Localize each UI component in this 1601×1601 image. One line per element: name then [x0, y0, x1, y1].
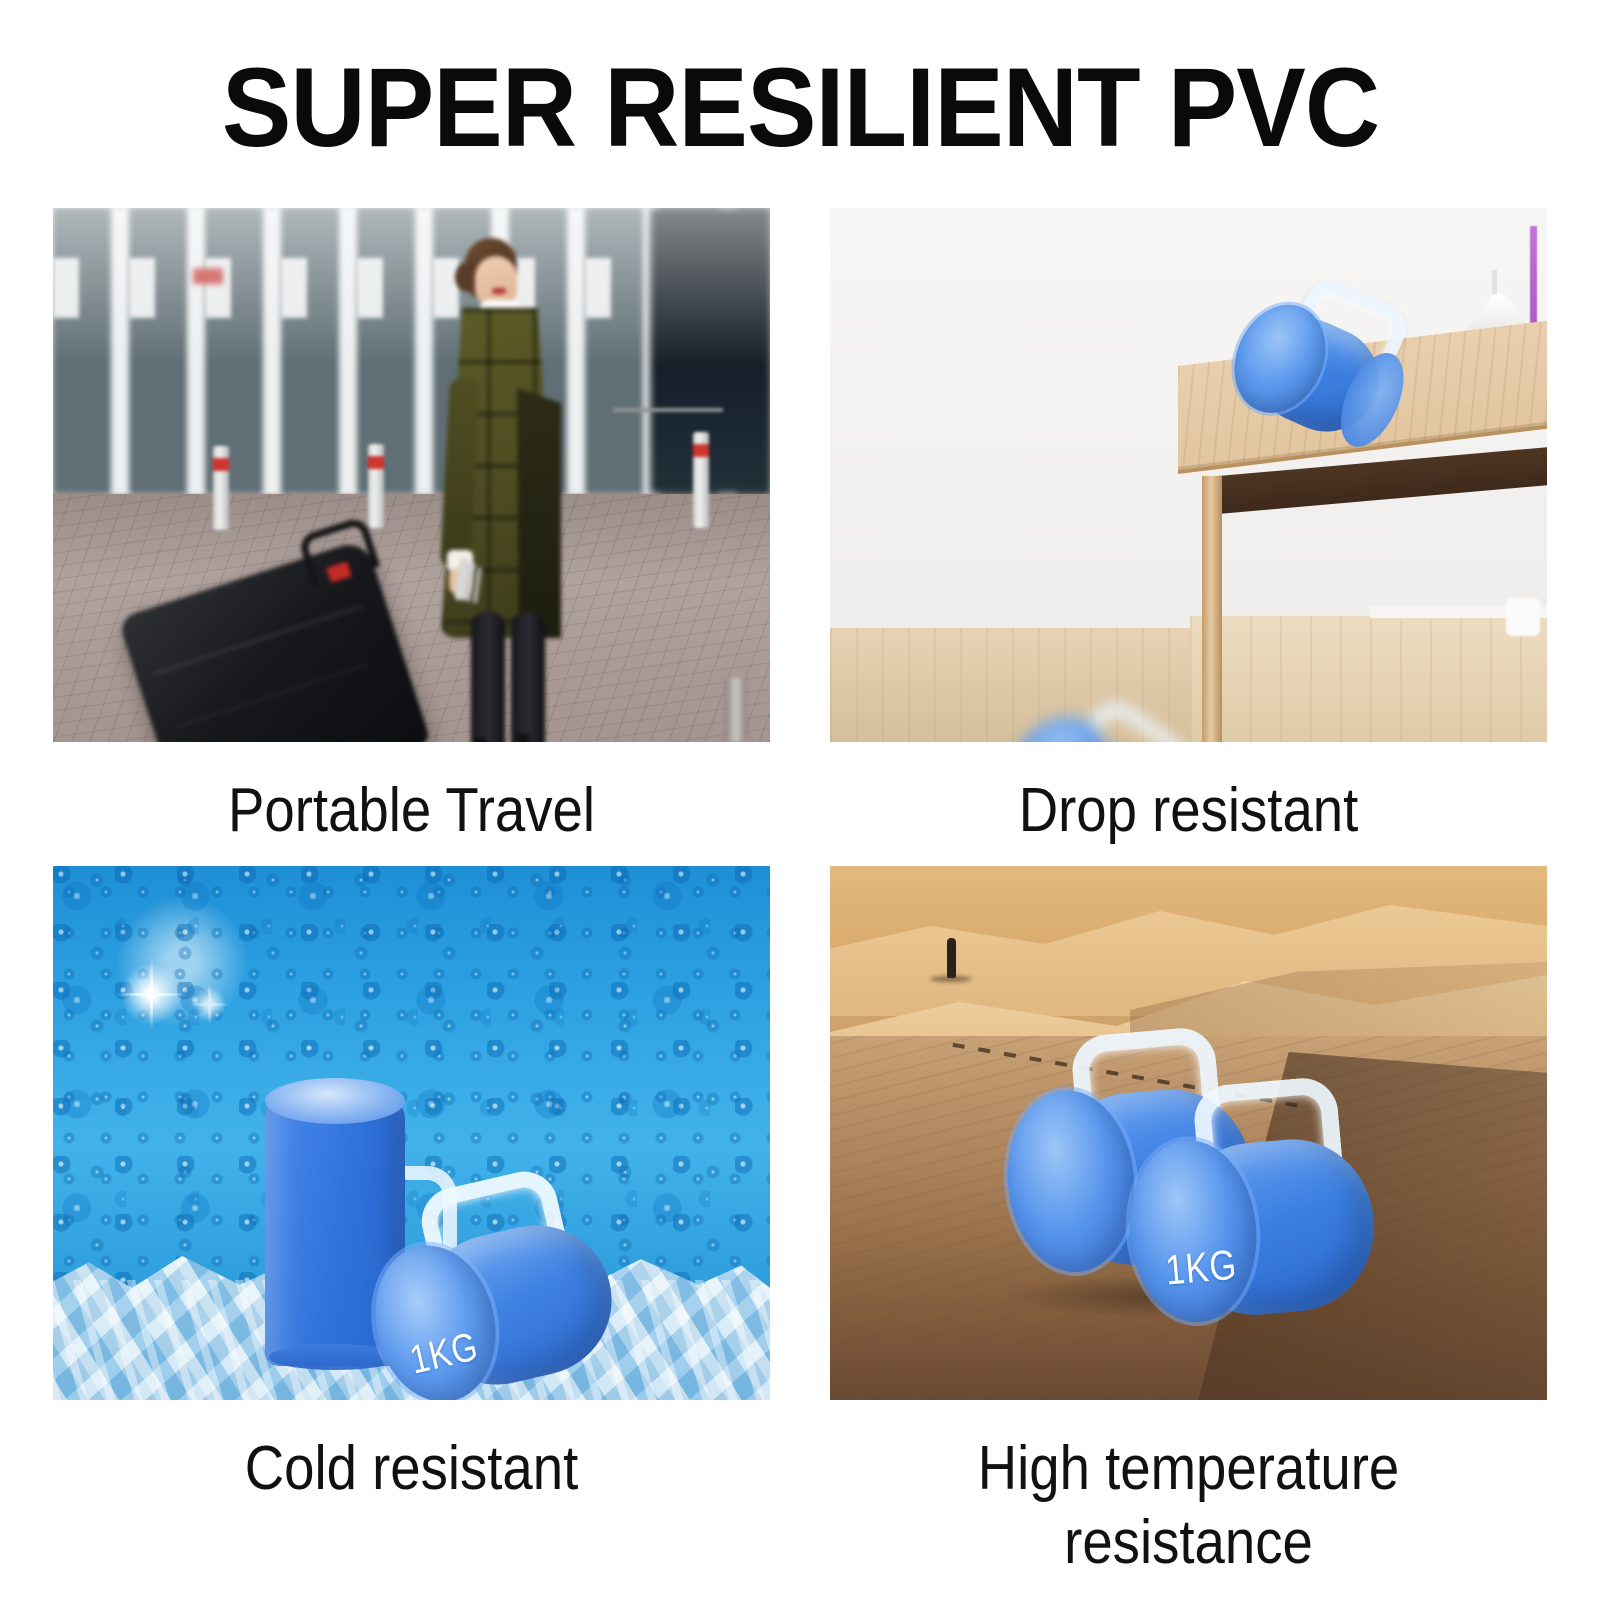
lamp-stem	[1492, 270, 1497, 298]
boot-heel	[517, 734, 529, 742]
dumbbell-weight-label: 1KG	[1162, 1240, 1241, 1294]
traveler-figure	[425, 238, 575, 742]
dumbbell-weight-label: 1KG	[405, 1324, 484, 1384]
feature-caption-high-temperature: High temperature resistance	[873, 1432, 1504, 1580]
bollard-icon	[368, 444, 384, 528]
dumbbell-front: 1KG	[1120, 1101, 1407, 1355]
bollard-icon	[213, 446, 229, 530]
feature-card-cold-resistant: 1KG Cold resistant	[53, 866, 770, 1506]
photo-cold-resistant: 1KG	[53, 866, 770, 1400]
feature-card-high-temperature: 1KG High temperature resistance	[830, 866, 1547, 1580]
feature-caption-portable-travel: Portable Travel	[96, 774, 727, 848]
feature-caption-drop-resistant: Drop resistant	[873, 774, 1504, 848]
lips	[492, 288, 506, 294]
caption-line-1: High temperature	[873, 1432, 1504, 1506]
luggage-seam	[178, 664, 369, 728]
photo-portable-travel	[53, 208, 770, 742]
handrail	[613, 408, 723, 412]
feature-card-drop-resistant: Drop resistant	[830, 208, 1547, 848]
sparkle-icon	[189, 984, 229, 1024]
wood-floor-right	[1190, 616, 1547, 742]
white-furniture-foot	[1506, 598, 1540, 636]
boot	[511, 612, 545, 742]
foreground-post	[725, 678, 747, 742]
coat-shadow-panel	[517, 388, 561, 638]
infographic-page: SUPER RESILIENT PVC	[0, 0, 1601, 1601]
page-title: SUPER RESILIENT PVC	[56, 52, 1545, 164]
dumbbell-weight-label	[1258, 349, 1313, 374]
bollard-icon	[693, 432, 709, 528]
boot	[471, 612, 505, 742]
walker-shadow	[930, 976, 972, 982]
feature-grid: Portable Travel	[53, 208, 1547, 1568]
photo-drop-resistant	[830, 208, 1547, 742]
boot-heel	[475, 738, 487, 742]
feature-caption-cold-resistant: Cold resistant	[96, 1432, 727, 1506]
caption-line-2: resistance	[873, 1506, 1504, 1580]
feature-card-portable-travel: Portable Travel	[53, 208, 770, 848]
photo-high-temperature: 1KG	[830, 866, 1547, 1400]
dumbbell-top-cap	[265, 1078, 405, 1124]
table-leg	[1202, 476, 1222, 742]
distant-walker-figure	[947, 938, 956, 978]
sparkle-icon	[115, 958, 187, 1030]
luggage-seam	[152, 605, 362, 676]
facade-glass-sheen	[53, 208, 770, 494]
